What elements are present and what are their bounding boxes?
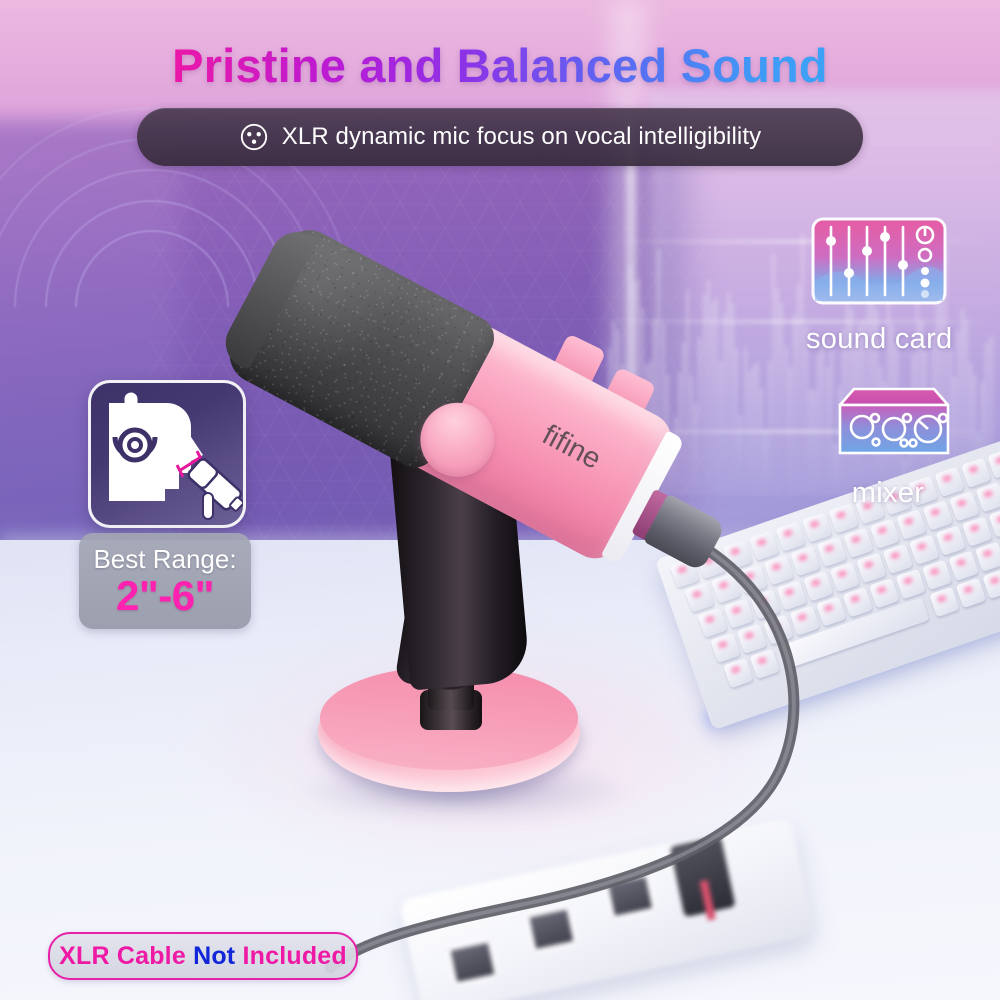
head-mic-distance-glyph — [91, 383, 243, 525]
subtitle-pill: XLR dynamic mic focus on vocal intelligi… — [137, 108, 863, 166]
feature-label-sound-card: sound card — [806, 323, 953, 356]
sound-card-icon — [809, 215, 949, 315]
subtitle-text: XLR dynamic mic focus on vocal intelligi… — [282, 123, 761, 151]
head-with-headphones-and-mic-distance-icon — [88, 380, 246, 528]
mixer-icon — [818, 383, 958, 469]
notice-part-3: Included — [243, 942, 347, 971]
best-range-value: 2"-6" — [116, 575, 214, 617]
notice-space-1 — [186, 942, 193, 971]
best-range-label: Best Range: — [93, 546, 236, 572]
notice-part-2: Not — [193, 942, 235, 971]
feature-sound-card: sound card — [806, 215, 953, 356]
best-range-badge: Best Range: 2"-6" — [79, 533, 251, 629]
page-title: Pristine and Balanced Sound — [0, 38, 1000, 93]
brand-logo: fifine — [537, 419, 607, 477]
feature-mixer: mixer — [818, 383, 958, 510]
xlr-cable-notice-badge: XLR Cable Not Included — [48, 932, 358, 980]
xlr-connector-icon — [239, 122, 269, 152]
notice-space-2 — [235, 942, 242, 971]
product-marketing-image: fifine Pristine and Balanced Sound XLR d… — [0, 0, 1000, 1000]
feature-label-mixer: mixer — [852, 477, 924, 510]
notice-part-1: XLR Cable — [59, 942, 186, 971]
